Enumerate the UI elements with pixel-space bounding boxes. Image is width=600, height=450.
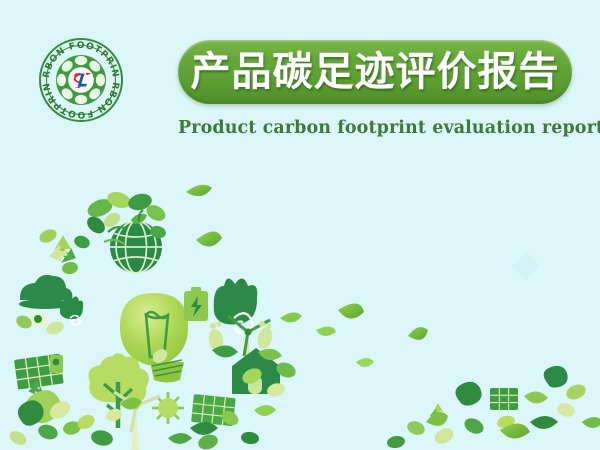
page-subtitle: Product carbon footprint evaluation repo… (178, 118, 572, 138)
hand-icon (60, 296, 83, 325)
title-banner: 产品碳足迹评价报告 (178, 40, 572, 104)
solar-panel-icon-3 (490, 388, 518, 410)
carbon-footprint-seal-logo: CARBON FOOTPRINT · CARBON FOOTPRINT · (37, 36, 125, 124)
solar-panel-icon (14, 354, 64, 395)
small-icon-cluster-left (14, 313, 65, 337)
slide-canvas: CARBON FOOTPRINT · CARBON FOOTPRINT · (0, 0, 600, 450)
page-title: 产品碳足迹评价报告 (191, 52, 560, 92)
heel-cluster-left (7, 390, 82, 448)
battery-icon (184, 287, 208, 321)
eco-icon-footprint-collage (0, 170, 600, 450)
bottom-right-icon-cluster (386, 366, 600, 450)
header: CARBON FOOTPRINT · CARBON FOOTPRINT · (0, 0, 600, 170)
recycle-icon (37, 227, 91, 276)
